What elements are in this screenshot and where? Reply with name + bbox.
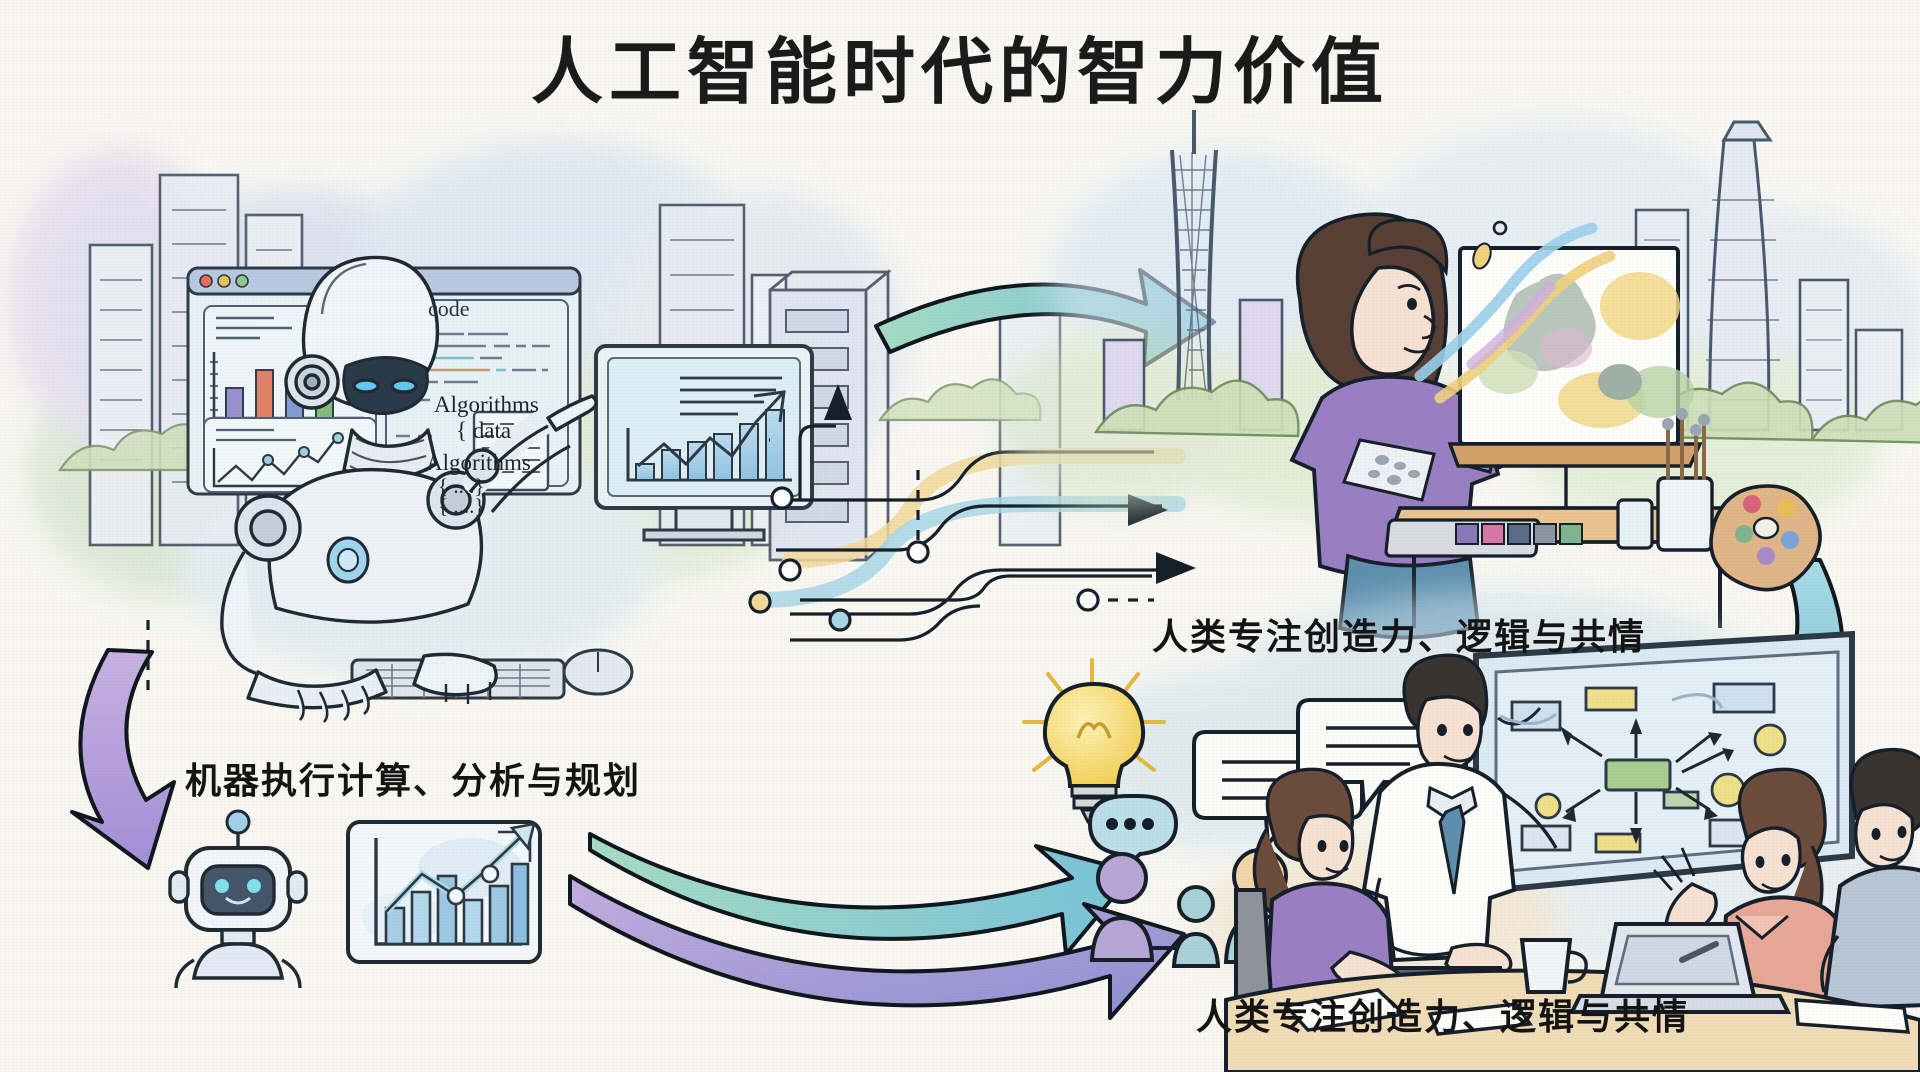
illustration-canvas: 人工智能时代的智力价值 机器执行计算、分析与规划 人类专注创造力、逻辑与共情 人… <box>0 0 1920 1072</box>
window-dot-yellow <box>218 275 230 287</box>
growth-chart-card-icon <box>348 822 540 962</box>
artwork-layer <box>0 0 1920 1072</box>
window-dot-red <box>200 275 212 287</box>
paint-palette-icon <box>1711 486 1820 590</box>
caption-machine: 机器执行计算、分析与规划 <box>185 752 641 804</box>
code-label-data: { data <box>456 418 511 444</box>
code-label-code: code <box>428 296 470 322</box>
page-title: 人工智能时代的智力价值 <box>0 36 1920 108</box>
arrow-left-down-purple <box>72 650 174 868</box>
window-dot-green <box>236 275 248 287</box>
code-label-braces-2: { ....} <box>438 494 484 519</box>
code-label-algorithms-1: Algorithms <box>434 392 539 418</box>
caption-human-bottom: 人类专注创造力、逻辑与共情 <box>1196 988 1690 1040</box>
code-label-algorithms-2: Algorithms <box>426 450 531 476</box>
mindmap-center-node <box>1606 760 1670 790</box>
caption-human-top: 人类专注创造力、逻辑与共情 <box>1152 608 1646 660</box>
robot-badge-icon <box>170 811 306 988</box>
